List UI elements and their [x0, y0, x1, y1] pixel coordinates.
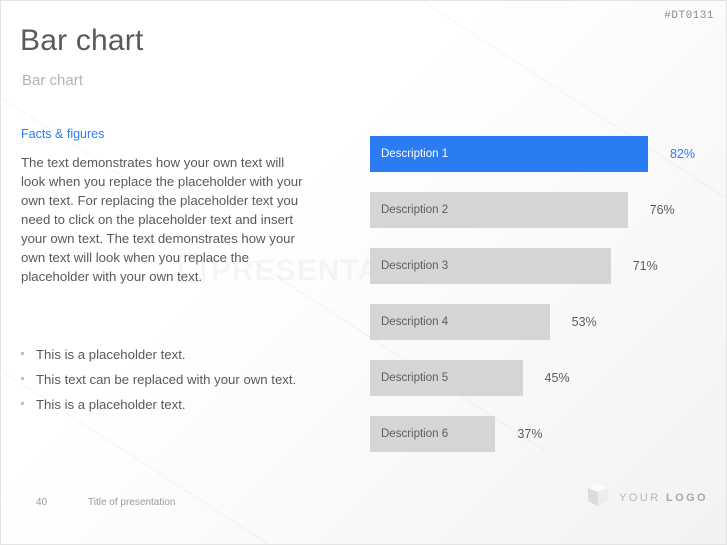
bar[interactable]: Description 1	[370, 136, 648, 172]
bar-row: Description 1 82%	[370, 136, 710, 172]
list-item: This is a placeholder text.	[21, 345, 321, 364]
bar-value: 37%	[517, 427, 542, 441]
cube-icon	[587, 483, 609, 513]
bar-row: Description 3 71%	[370, 248, 710, 284]
bar-row: Description 2 76%	[370, 192, 710, 228]
bar-value: 76%	[650, 203, 675, 217]
bar[interactable]: Description 5	[370, 360, 523, 396]
bullet-dot-icon	[21, 402, 24, 405]
bar[interactable]: Description 4	[370, 304, 550, 340]
document-code: #DT0131	[664, 10, 714, 22]
bar-value: 82%	[670, 147, 695, 161]
list-item-label: This text can be replaced with your own …	[36, 372, 296, 387]
bar-label: Description 1	[381, 148, 448, 160]
bullet-dot-icon	[21, 352, 24, 355]
bar-row: Description 4 53%	[370, 304, 710, 340]
logo: YOUR LOGO	[587, 483, 708, 513]
bar-value: 71%	[633, 259, 658, 273]
footer-page-number: 40	[36, 497, 47, 508]
footer-presentation-title: Title of presentation	[88, 497, 175, 508]
facts-and-figures-heading: Facts & figures	[21, 127, 104, 141]
list-item: This text can be replaced with your own …	[21, 370, 321, 389]
bar-row: Description 5 45%	[370, 360, 710, 396]
bar-label: Description 3	[381, 260, 448, 272]
bar-label: Description 2	[381, 204, 448, 216]
facts-paragraph: The text demonstrates how your own text …	[21, 153, 311, 286]
placeholder-bullet-list: This is a placeholder text. This text ca…	[21, 345, 321, 420]
bar-label: Description 5	[381, 372, 448, 384]
bar-row: Description 6 37%	[370, 416, 710, 452]
page-subtitle: Bar chart	[22, 72, 83, 89]
bar[interactable]: Description 2	[370, 192, 628, 228]
list-item-label: This is a placeholder text.	[36, 347, 186, 362]
bar-value: 45%	[545, 371, 570, 385]
logo-text-first: YOUR	[619, 492, 666, 504]
bullet-dot-icon	[21, 377, 24, 380]
list-item-label: This is a placeholder text.	[36, 397, 186, 412]
bar-label: Description 4	[381, 316, 448, 328]
list-item: This is a placeholder text.	[21, 395, 321, 414]
page-title: Bar chart	[20, 24, 144, 58]
bar[interactable]: Description 3	[370, 248, 611, 284]
bar-label: Description 6	[381, 428, 448, 440]
logo-text: YOUR LOGO	[619, 492, 708, 504]
bar-chart: Description 1 82% Description 2 76% Desc…	[370, 136, 710, 451]
bar[interactable]: Description 6	[370, 416, 495, 452]
bar-value: 53%	[572, 315, 597, 329]
logo-text-second: LOGO	[666, 492, 708, 504]
slide-canvas: PRESENTATIONLOAD #DT0131 Bar chart Bar c…	[0, 0, 727, 545]
